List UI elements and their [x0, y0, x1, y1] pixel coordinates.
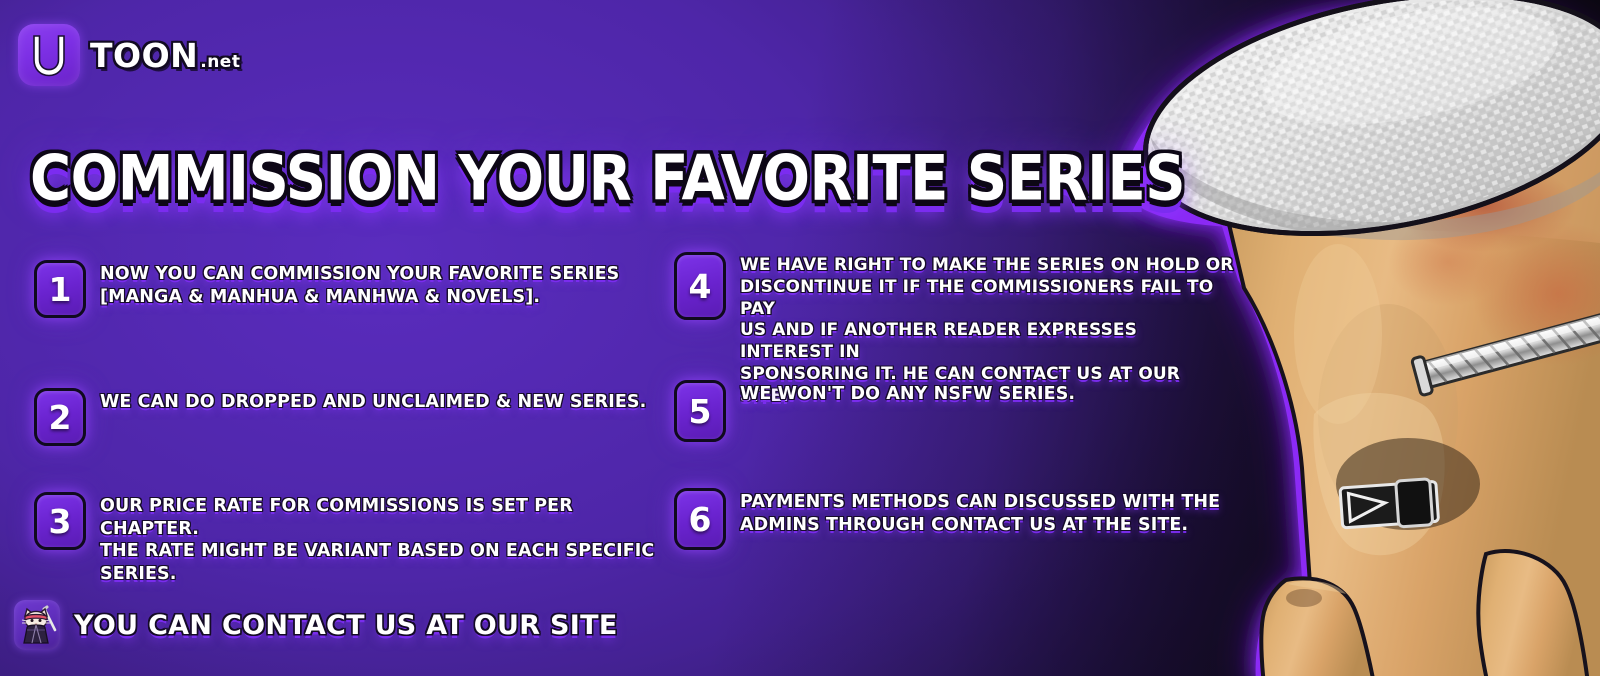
item-number-badge: 3 — [34, 492, 86, 550]
page-title: COMMISSION YOUR FAVORITE SERIES — [30, 148, 1185, 211]
item-number-badge: 6 — [674, 488, 726, 550]
item-text: WE WON'T DO ANY NSFW SERIES. — [740, 380, 1075, 406]
list-item: 2 WE CAN DO DROPPED AND UNCLAIMED & NEW … — [34, 388, 646, 446]
contact-footer[interactable]: YOU CAN CONTACT US AT OUR SITE — [14, 600, 618, 650]
item-number-badge: 5 — [674, 380, 726, 442]
crescent-u-logo-icon — [18, 24, 80, 86]
list-item: 6 PAYMENTS METHODS CAN DISCUSSED WITH TH… — [674, 488, 1220, 550]
brand-name: TOON.net — [90, 36, 240, 75]
list-item: 5 WE WON'T DO ANY NSFW SERIES. — [674, 380, 1075, 442]
item-number-badge: 2 — [34, 388, 86, 446]
samurai-cat-avatar-icon — [14, 600, 60, 650]
item-text: PAYMENTS METHODS CAN DISCUSSED WITH THE … — [740, 488, 1220, 536]
item-number-badge: 1 — [34, 260, 86, 318]
list-item: 1 NOW YOU CAN COMMISSION YOUR FAVORITE S… — [34, 260, 619, 318]
item-number-badge: 4 — [674, 252, 726, 320]
item-text: WE CAN DO DROPPED AND UNCLAIMED & NEW SE… — [100, 388, 646, 414]
promo-banner: TOON.net COMMISSION YOUR FAVORITE SERIES… — [0, 0, 1600, 676]
contact-footer-label: YOU CAN CONTACT US AT OUR SITE — [74, 610, 618, 641]
item-text: NOW YOU CAN COMMISSION YOUR FAVORITE SER… — [100, 260, 619, 308]
brand-name-main: TOON — [90, 36, 198, 75]
list-item: 3 OUR PRICE RATE FOR COMMISSIONS IS SET … — [34, 492, 674, 585]
brand-name-tld: .net — [200, 52, 240, 72]
item-text: OUR PRICE RATE FOR COMMISSIONS IS SET PE… — [100, 492, 674, 585]
brand-logo[interactable]: TOON.net — [18, 24, 240, 86]
